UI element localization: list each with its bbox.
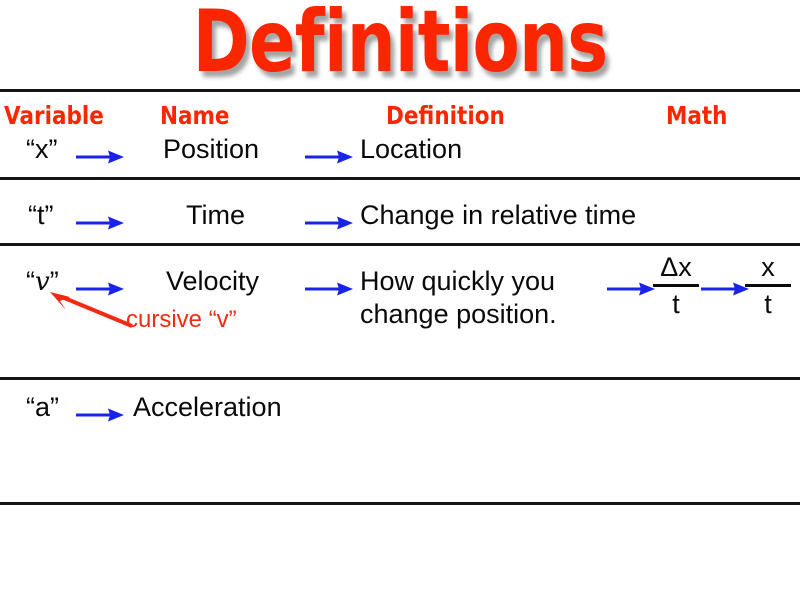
row-name-time: Time — [186, 199, 245, 231]
arrow-right-icon — [76, 148, 124, 171]
quote-close: ” — [50, 392, 59, 422]
row-name-acceleration: Acceleration — [133, 391, 282, 423]
variable-symbol-t: t — [37, 200, 45, 230]
quote-close: ” — [49, 134, 58, 164]
column-header-math: Math — [666, 102, 727, 130]
column-header-variable: Variable — [4, 102, 104, 130]
fraction-x-over-t: x t — [740, 252, 796, 319]
row-definition-velocity-line2: change position. — [360, 298, 557, 330]
fraction-numerator: Δx — [648, 252, 704, 282]
divider-line-3 — [0, 377, 800, 380]
row-definition-time: Change in relative time — [360, 199, 636, 231]
divider-line-2 — [0, 243, 800, 246]
fraction-delta-x-over-t: Δx t — [648, 252, 704, 319]
table-row: “a” — [26, 391, 59, 423]
divider-line-1 — [0, 177, 800, 180]
annotation-label: cursive “v” — [126, 306, 237, 334]
fraction-denominator: t — [648, 289, 704, 319]
table-row: “x” — [26, 133, 58, 165]
quote-open: “ — [26, 134, 35, 164]
fraction-numerator: x — [740, 252, 796, 282]
arrow-right-icon — [76, 406, 124, 429]
arrow-right-icon — [305, 214, 353, 237]
quote-open: “ — [26, 266, 35, 296]
fraction-bar — [653, 284, 699, 287]
quote-open: “ — [28, 200, 37, 230]
fraction-bar — [745, 284, 791, 287]
quote-close: ” — [45, 200, 54, 230]
slide-canvas: Definitions Variable Name Definition Mat… — [0, 0, 800, 600]
arrow-right-icon — [305, 280, 353, 303]
arrow-right-icon — [76, 214, 124, 237]
row-name-velocity: Velocity — [166, 265, 259, 297]
divider-line-bottom — [0, 502, 800, 505]
column-header-definition: Definition — [386, 102, 505, 130]
fraction-denominator: t — [740, 289, 796, 319]
divider-line-top — [0, 89, 800, 92]
arrow-right-icon — [305, 148, 353, 171]
quote-open: “ — [26, 392, 35, 422]
row-definition-velocity-line1: How quickly you — [360, 265, 555, 297]
page-title: Definitions — [80, 0, 720, 90]
row-name-position: Position — [163, 133, 259, 165]
variable-symbol-x: x — [35, 134, 49, 164]
column-header-name: Name — [160, 102, 229, 130]
table-row: “t” — [28, 199, 54, 231]
variable-symbol-a: a — [35, 392, 50, 422]
row-definition-location: Location — [360, 133, 462, 165]
